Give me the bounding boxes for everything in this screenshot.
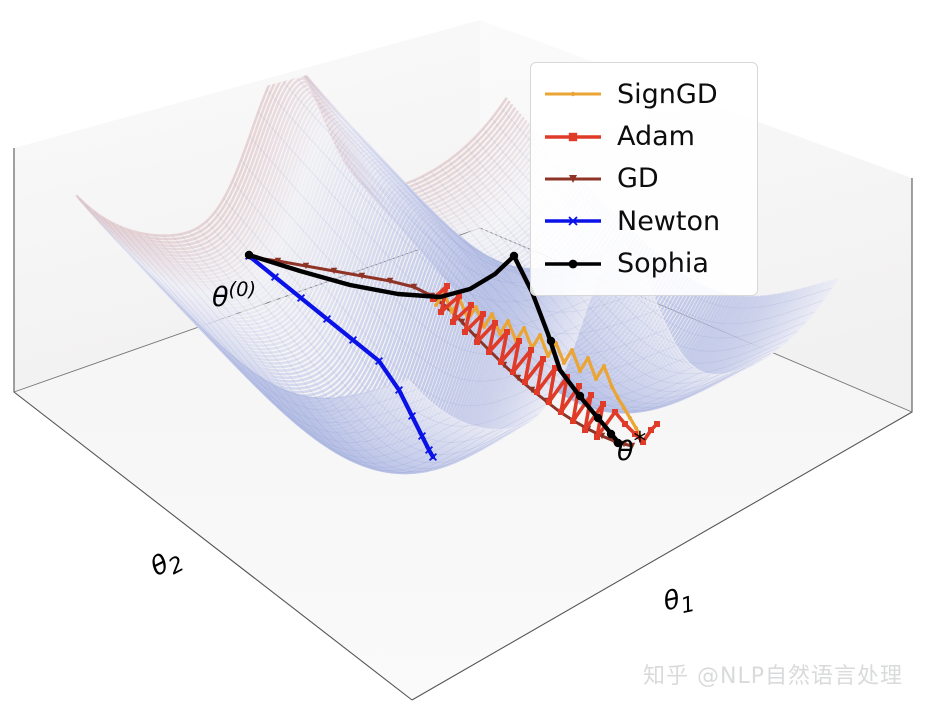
legend-item-adam[interactable]: Adam (543, 117, 743, 157)
legend-label-newton: Newton (617, 208, 720, 235)
legend-label-signgd: SignGD (617, 81, 718, 108)
legend-swatch-newton (543, 212, 603, 230)
figure-canvas: SignGD Adam GD Newton Sophia θ2 θ1 θ(0) … (0, 0, 925, 708)
annotation-optimum-point: θ* (617, 427, 646, 467)
legend-swatch-gd (543, 170, 603, 188)
legend-swatch-adam (543, 128, 603, 146)
legend-swatch-sophia (543, 255, 603, 273)
annotation-start-sup: (0) (229, 278, 257, 301)
watermark-text: 知乎 @NLP自然语言处理 (643, 658, 903, 690)
annotation-optimum-sup: * (634, 427, 647, 457)
legend-swatch-signgd (543, 85, 603, 103)
annotation-start-point: θ(0) (212, 278, 256, 313)
legend-item-sophia[interactable]: Sophia (543, 244, 743, 284)
axes-panes (14, 20, 912, 700)
legend-item-signgd[interactable]: SignGD (543, 74, 743, 114)
legend-label-gd: GD (617, 165, 659, 192)
legend-item-gd[interactable]: GD (543, 159, 743, 199)
legend-label-sophia: Sophia (617, 250, 709, 277)
legend-box[interactable]: SignGD Adam GD Newton Sophia (530, 62, 758, 296)
surface-plot-svg (0, 0, 925, 708)
legend-item-newton[interactable]: Newton (543, 201, 743, 241)
legend-label-adam: Adam (617, 123, 695, 150)
